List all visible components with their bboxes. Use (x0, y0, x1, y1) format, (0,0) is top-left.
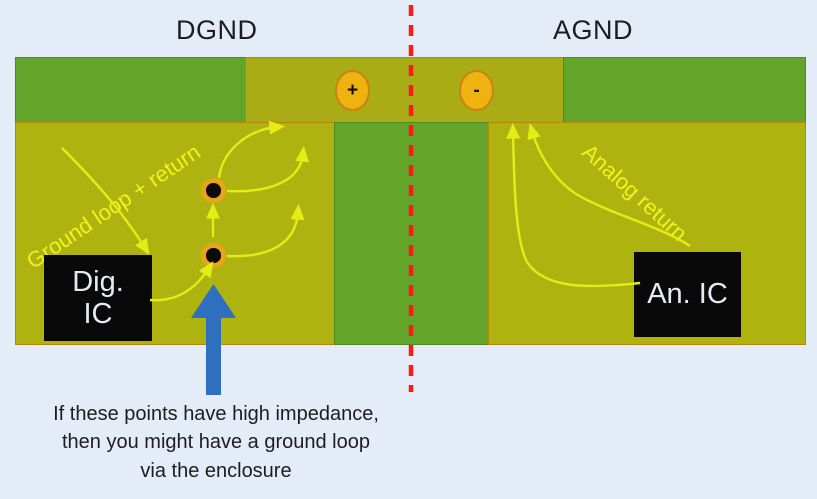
via-pad-lower[interactable] (201, 243, 226, 268)
caption-line-2: then you might have a ground loop (10, 428, 422, 456)
digital-ic-label-line2: IC (84, 298, 113, 330)
plane-top-center-olive (245, 57, 564, 123)
label-agnd: AGND (553, 15, 633, 46)
caption-line-3: via the enclosure (10, 457, 422, 485)
caption-block: If these points have high impedance, the… (10, 400, 422, 485)
enclosure-top-right-green (563, 57, 806, 123)
digital-ic-label-line1: Dig. (72, 266, 124, 298)
caption-line-1: If these points have high impedance, (10, 400, 422, 428)
enclosure-lower-center-green (334, 122, 489, 345)
diagram-canvas: DGND AGND + - Ground loop + return Analo… (0, 0, 817, 499)
label-dgnd: DGND (176, 15, 258, 46)
digital-ic-box: Dig. IC (44, 255, 152, 341)
enclosure-top-left-green (15, 57, 246, 123)
analog-ic-label-line1: An. IC (647, 278, 728, 310)
terminal-negative[interactable]: - (459, 70, 494, 111)
via-pad-upper[interactable] (201, 178, 226, 203)
terminal-positive[interactable]: + (335, 70, 370, 111)
analog-ic-box: An. IC (634, 252, 741, 337)
